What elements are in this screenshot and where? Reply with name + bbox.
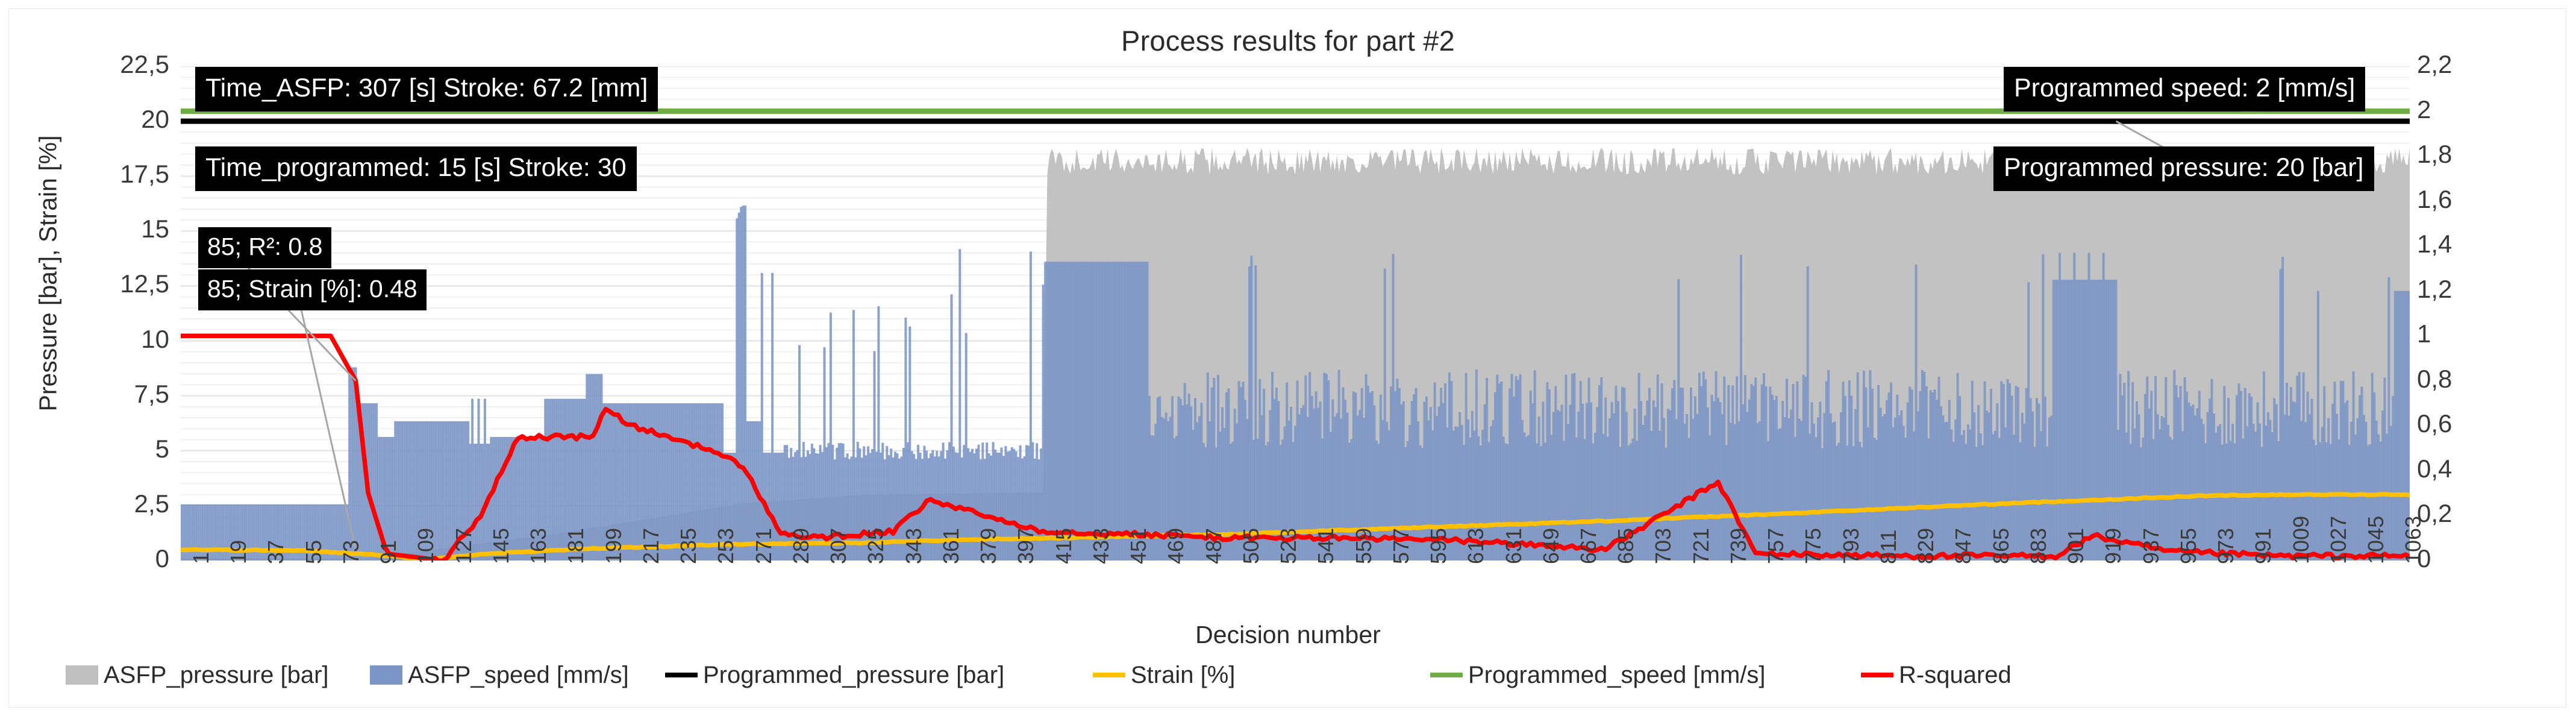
y-tick-left-2: 5: [155, 435, 169, 463]
x-tick-19: 343: [901, 528, 927, 564]
legend-item-2[interactable]: Programmed_pressure [bar]: [665, 662, 1004, 689]
y-tick-left-9: 22,5: [120, 50, 169, 79]
x-tick-2: 37: [263, 540, 289, 564]
annotation-time-asfp: Time_ASFP: 307 [s] Stroke: 67.2 [mm]: [196, 68, 657, 111]
legend-label-5: R-squared: [1899, 662, 2012, 689]
x-tick-15: 271: [751, 528, 777, 564]
x-tick-14: 253: [713, 528, 739, 564]
x-tick-34: 613: [1463, 528, 1489, 564]
annotation-r-squared-point: 85; R²: 0.8: [199, 228, 331, 268]
x-tick-40: 721: [1689, 528, 1714, 564]
x-tick-56: 1009: [2289, 516, 2314, 564]
legend-label-3: Strain [%]: [1131, 662, 1235, 689]
x-tick-48: 865: [1989, 528, 2014, 564]
annotation-strain-point: 85; Strain [%]: 0.48: [199, 270, 426, 310]
x-tick-7: 127: [451, 528, 477, 564]
y-tick-right-9: 1,8: [2417, 140, 2452, 169]
y-tick-right-3: 0,6: [2417, 409, 2452, 438]
y-tick-right-2: 0,4: [2417, 454, 2452, 483]
legend: ASFP_pressure [bar]ASFP_speed [mm/s]Prog…: [8, 654, 2566, 696]
y-axis-left-title: Pressure [bar], Strain [%]: [34, 45, 63, 503]
y-tick-right-11: 2,2: [2417, 50, 2452, 79]
x-axis-title: Decision number: [0, 621, 2576, 649]
legend-label-1: ASFP_speed [mm/s]: [408, 662, 629, 689]
legend-swatch-line-icon: [665, 673, 698, 677]
x-tick-37: 667: [1576, 528, 1601, 564]
x-tick-28: 505: [1239, 528, 1264, 564]
x-tick-23: 415: [1051, 528, 1077, 564]
plot-svg: [181, 66, 2410, 561]
x-tick-12: 217: [639, 528, 664, 564]
legend-label-2: Programmed_pressure [bar]: [703, 662, 1004, 689]
legend-swatch-line-icon: [1430, 673, 1463, 677]
x-tick-46: 829: [1913, 528, 1939, 564]
x-tick-59: 1063: [2401, 516, 2426, 564]
x-tick-4: 73: [339, 540, 364, 564]
legend-swatch-box-icon: [370, 665, 402, 685]
x-tick-13: 235: [676, 528, 701, 564]
x-tick-57: 1027: [2326, 516, 2351, 564]
chart-screenshot: Process results for part #2 Pressure [ba…: [0, 0, 2576, 716]
x-tick-49: 883: [2026, 528, 2051, 564]
y-tick-right-7: 1,4: [2417, 230, 2452, 259]
y-tick-left-1: 2,5: [134, 489, 169, 518]
x-tick-27: 487: [1201, 528, 1227, 564]
legend-swatch-line-icon: [1093, 673, 1125, 677]
y-tick-right-10: 2: [2417, 95, 2431, 124]
x-tick-41: 739: [1726, 528, 1751, 564]
x-tick-26: 469: [1163, 528, 1189, 564]
x-tick-52: 937: [2139, 528, 2164, 564]
x-tick-10: 181: [563, 528, 589, 564]
x-tick-36: 649: [1539, 528, 1564, 564]
y-tick-left-0: 0: [155, 544, 169, 573]
x-tick-18: 325: [863, 528, 889, 564]
x-tick-50: 901: [2063, 528, 2089, 564]
x-tick-39: 703: [1651, 528, 1676, 564]
x-tick-22: 397: [1013, 528, 1039, 564]
y-tick-left-8: 20: [141, 105, 169, 134]
annotation-programmed-pressure: Programmed pressure: 20 [bar]: [1994, 147, 2374, 190]
x-tick-6: 109: [413, 528, 439, 564]
x-tick-51: 919: [2101, 528, 2126, 564]
x-tick-1: 19: [226, 540, 251, 564]
x-tick-0: 1: [189, 552, 214, 564]
x-tick-9: 163: [526, 528, 551, 564]
x-tick-42: 757: [1763, 528, 1789, 564]
x-tick-11: 199: [601, 528, 627, 564]
legend-label-0: ASFP_pressure [bar]: [104, 662, 329, 689]
y-tick-right-4: 0,8: [2417, 365, 2452, 394]
legend-label-4: Programmed_speed [mm/s]: [1468, 662, 1766, 689]
x-tick-58: 1045: [2363, 516, 2389, 564]
y-tick-left-3: 7,5: [134, 380, 169, 409]
legend-item-3[interactable]: Strain [%]: [1093, 662, 1235, 689]
y-tick-left-5: 12,5: [120, 269, 169, 298]
legend-item-5[interactable]: R-squared: [1861, 662, 2012, 689]
x-tick-38: 685: [1613, 528, 1639, 564]
page-title: Process results for part #2: [0, 24, 2576, 57]
x-tick-21: 379: [976, 528, 1001, 564]
x-axis: 1193755739110912714516318119921723525327…: [181, 564, 2410, 622]
x-tick-20: 361: [939, 528, 964, 564]
y-tick-left-7: 17,5: [120, 160, 169, 189]
legend-item-0[interactable]: ASFP_pressure [bar]: [66, 662, 329, 689]
y-tick-left-6: 15: [141, 215, 169, 243]
annotation-programmed-speed: Programmed speed: 2 [mm/s]: [2004, 68, 2365, 111]
x-tick-29: 523: [1276, 528, 1301, 564]
x-tick-45: 811: [1876, 530, 1901, 564]
x-tick-55: 991: [2251, 528, 2276, 564]
x-tick-31: 559: [1351, 528, 1377, 564]
y-axis-right: 00,20,40,60,811,21,41,61,822,2: [2415, 66, 2523, 561]
y-tick-right-6: 1,2: [2417, 275, 2452, 304]
x-tick-47: 847: [1951, 528, 1976, 564]
x-tick-3: 55: [301, 540, 327, 564]
x-tick-32: 577: [1389, 528, 1414, 564]
legend-swatch-box-icon: [66, 665, 98, 685]
legend-item-1[interactable]: ASFP_speed [mm/s]: [370, 662, 629, 689]
x-tick-16: 289: [789, 528, 814, 564]
x-tick-54: 973: [2213, 528, 2239, 564]
x-tick-53: 955: [2176, 528, 2201, 564]
legend-item-4[interactable]: Programmed_speed [mm/s]: [1430, 662, 1766, 689]
y-tick-right-5: 1: [2417, 319, 2431, 348]
legend-swatch-line-icon: [1861, 673, 1893, 677]
plot-area: [181, 66, 2410, 561]
x-tick-33: 595: [1426, 528, 1451, 564]
x-tick-43: 775: [1801, 528, 1826, 564]
x-tick-30: 541: [1313, 528, 1339, 564]
x-tick-8: 145: [489, 528, 514, 564]
y-tick-right-8: 1,6: [2417, 185, 2452, 214]
x-tick-25: 451: [1126, 528, 1151, 564]
x-tick-44: 793: [1839, 528, 1864, 564]
x-tick-35: 631: [1501, 528, 1527, 564]
x-tick-17: 307: [826, 528, 851, 564]
y-axis-left: 02,557,51012,51517,52022,5: [72, 66, 172, 561]
annotation-time-programmed: Time_programmed: 15 [s] Stroke: 30: [196, 147, 636, 190]
y-tick-left-4: 10: [141, 325, 169, 354]
x-tick-24: 433: [1089, 528, 1114, 564]
x-tick-5: 91: [376, 540, 401, 564]
